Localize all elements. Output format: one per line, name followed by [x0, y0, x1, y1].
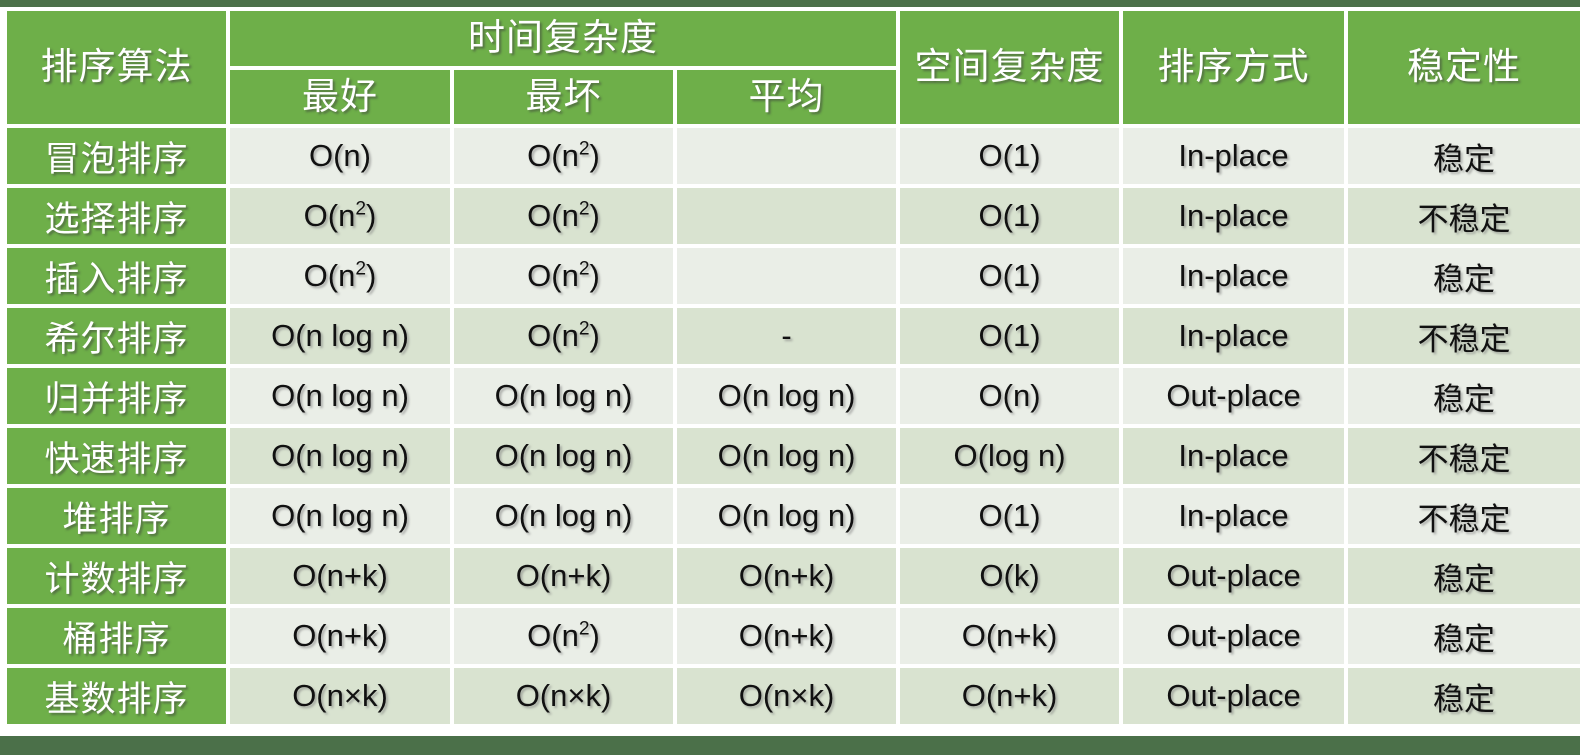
header-average-case: 平均 [677, 70, 896, 124]
cell-sort-method: In-place [1123, 428, 1344, 484]
cell-algorithm-name: 插入排序 [7, 248, 226, 304]
cell-algorithm-name: 希尔排序 [7, 308, 226, 364]
cell-average-case [677, 248, 896, 304]
cell-average-case: O(n log n) [677, 488, 896, 544]
cell-sort-method: In-place [1123, 248, 1344, 304]
cell-sort-method: Out-place [1123, 608, 1344, 664]
cell-average-case: O(n+k) [677, 548, 896, 604]
cell-algorithm-name: 冒泡排序 [7, 128, 226, 184]
cell-sort-method: In-place [1123, 188, 1344, 244]
header-row-sub: 最好 最坏 平均 [7, 70, 1580, 124]
cell-stability: 稳定 [1348, 608, 1580, 664]
cell-space-complexity: O(1) [900, 128, 1119, 184]
cell-average-case: O(n log n) [677, 428, 896, 484]
cell-sort-method: In-place [1123, 488, 1344, 544]
table-row: 计数排序O(n+k)O(n+k)O(n+k)O(k)Out-place稳定 [7, 548, 1580, 604]
cell-worst-case: O(n log n) [454, 488, 673, 544]
table-row: 冒泡排序O(n)O(n2)O(1)In-place稳定 [7, 128, 1580, 184]
cell-space-complexity: O(1) [900, 488, 1119, 544]
cell-average-case [677, 128, 896, 184]
cell-space-complexity: O(1) [900, 248, 1119, 304]
cell-sort-method: Out-place [1123, 548, 1344, 604]
cell-space-complexity: O(n+k) [900, 608, 1119, 664]
cell-space-complexity: O(1) [900, 308, 1119, 364]
cell-best-case: O(n log n) [230, 488, 450, 544]
cell-stability: 稳定 [1348, 248, 1580, 304]
cell-best-case: O(n log n) [230, 308, 450, 364]
cell-worst-case: O(n log n) [454, 368, 673, 424]
header-row-top: 排序算法 时间复杂度 空间复杂度 排序方式 稳定性 [7, 11, 1580, 66]
cell-worst-case: O(n×k) [454, 668, 673, 724]
sorting-algorithm-comparison-table: 排序算法 时间复杂度 空间复杂度 排序方式 稳定性 最好 最坏 平均 冒泡排序O… [3, 7, 1580, 728]
cell-worst-case: O(n log n) [454, 428, 673, 484]
table-row: 基数排序O(n×k)O(n×k)O(n×k)O(n+k)Out-place稳定 [7, 668, 1580, 724]
cell-worst-case: O(n2) [454, 608, 673, 664]
cell-average-case: O(n log n) [677, 368, 896, 424]
cell-algorithm-name: 基数排序 [7, 668, 226, 724]
table-body: 冒泡排序O(n)O(n2)O(1)In-place稳定选择排序O(n2)O(n2… [7, 128, 1580, 724]
cell-worst-case: O(n+k) [454, 548, 673, 604]
cell-space-complexity: O(log n) [900, 428, 1119, 484]
cell-best-case: O(n2) [230, 188, 450, 244]
cell-worst-case: O(n2) [454, 248, 673, 304]
cell-stability: 稳定 [1348, 668, 1580, 724]
cell-stability: 稳定 [1348, 128, 1580, 184]
cell-stability: 不稳定 [1348, 188, 1580, 244]
cell-average-case: O(n×k) [677, 668, 896, 724]
cell-sort-method: Out-place [1123, 368, 1344, 424]
cell-algorithm-name: 选择排序 [7, 188, 226, 244]
slide-root: 排序算法 时间复杂度 空间复杂度 排序方式 稳定性 最好 最坏 平均 冒泡排序O… [0, 0, 1580, 755]
cell-sort-method: In-place [1123, 308, 1344, 364]
cell-stability: 不稳定 [1348, 488, 1580, 544]
cell-best-case: O(n log n) [230, 428, 450, 484]
table-row: 桶排序O(n+k)O(n2)O(n+k)O(n+k)Out-place稳定 [7, 608, 1580, 664]
header-stability: 稳定性 [1348, 11, 1580, 124]
cell-average-case [677, 188, 896, 244]
header-sort-method: 排序方式 [1123, 11, 1344, 124]
cell-sort-method: Out-place [1123, 668, 1344, 724]
cell-best-case: O(n2) [230, 248, 450, 304]
cell-worst-case: O(n2) [454, 128, 673, 184]
header-algorithm: 排序算法 [7, 11, 226, 124]
header-space-complexity: 空间复杂度 [900, 11, 1119, 124]
bottom-decorative-band [0, 736, 1580, 755]
cell-best-case: O(n×k) [230, 668, 450, 724]
cell-algorithm-name: 快速排序 [7, 428, 226, 484]
cell-space-complexity: O(n+k) [900, 668, 1119, 724]
cell-space-complexity: O(k) [900, 548, 1119, 604]
header-group-time-complexity: 时间复杂度 [230, 11, 896, 66]
cell-algorithm-name: 堆排序 [7, 488, 226, 544]
cell-algorithm-name: 计数排序 [7, 548, 226, 604]
cell-stability: 稳定 [1348, 368, 1580, 424]
table-row: 快速排序O(n log n)O(n log n)O(n log n)O(log … [7, 428, 1580, 484]
cell-stability: 稳定 [1348, 548, 1580, 604]
table-row: 希尔排序O(n log n)O(n2)-O(1)In-place不稳定 [7, 308, 1580, 364]
cell-best-case: O(n+k) [230, 548, 450, 604]
cell-sort-method: In-place [1123, 128, 1344, 184]
table-row: 归并排序O(n log n)O(n log n)O(n log n)O(n)Ou… [7, 368, 1580, 424]
cell-space-complexity: O(n) [900, 368, 1119, 424]
header-best-case: 最好 [230, 70, 450, 124]
cell-average-case: - [677, 308, 896, 364]
cell-stability: 不稳定 [1348, 428, 1580, 484]
table-row: 插入排序O(n2)O(n2)O(1)In-place稳定 [7, 248, 1580, 304]
table-header: 排序算法 时间复杂度 空间复杂度 排序方式 稳定性 最好 最坏 平均 [7, 11, 1580, 124]
table-row: 选择排序O(n2)O(n2)O(1)In-place不稳定 [7, 188, 1580, 244]
cell-average-case: O(n+k) [677, 608, 896, 664]
cell-stability: 不稳定 [1348, 308, 1580, 364]
top-decorative-band [0, 0, 1580, 7]
cell-best-case: O(n) [230, 128, 450, 184]
cell-best-case: O(n log n) [230, 368, 450, 424]
header-worst-case: 最坏 [454, 70, 673, 124]
table-row: 堆排序O(n log n)O(n log n)O(n log n)O(1)In-… [7, 488, 1580, 544]
cell-best-case: O(n+k) [230, 608, 450, 664]
cell-worst-case: O(n2) [454, 308, 673, 364]
cell-worst-case: O(n2) [454, 188, 673, 244]
cell-algorithm-name: 归并排序 [7, 368, 226, 424]
cell-algorithm-name: 桶排序 [7, 608, 226, 664]
cell-space-complexity: O(1) [900, 188, 1119, 244]
